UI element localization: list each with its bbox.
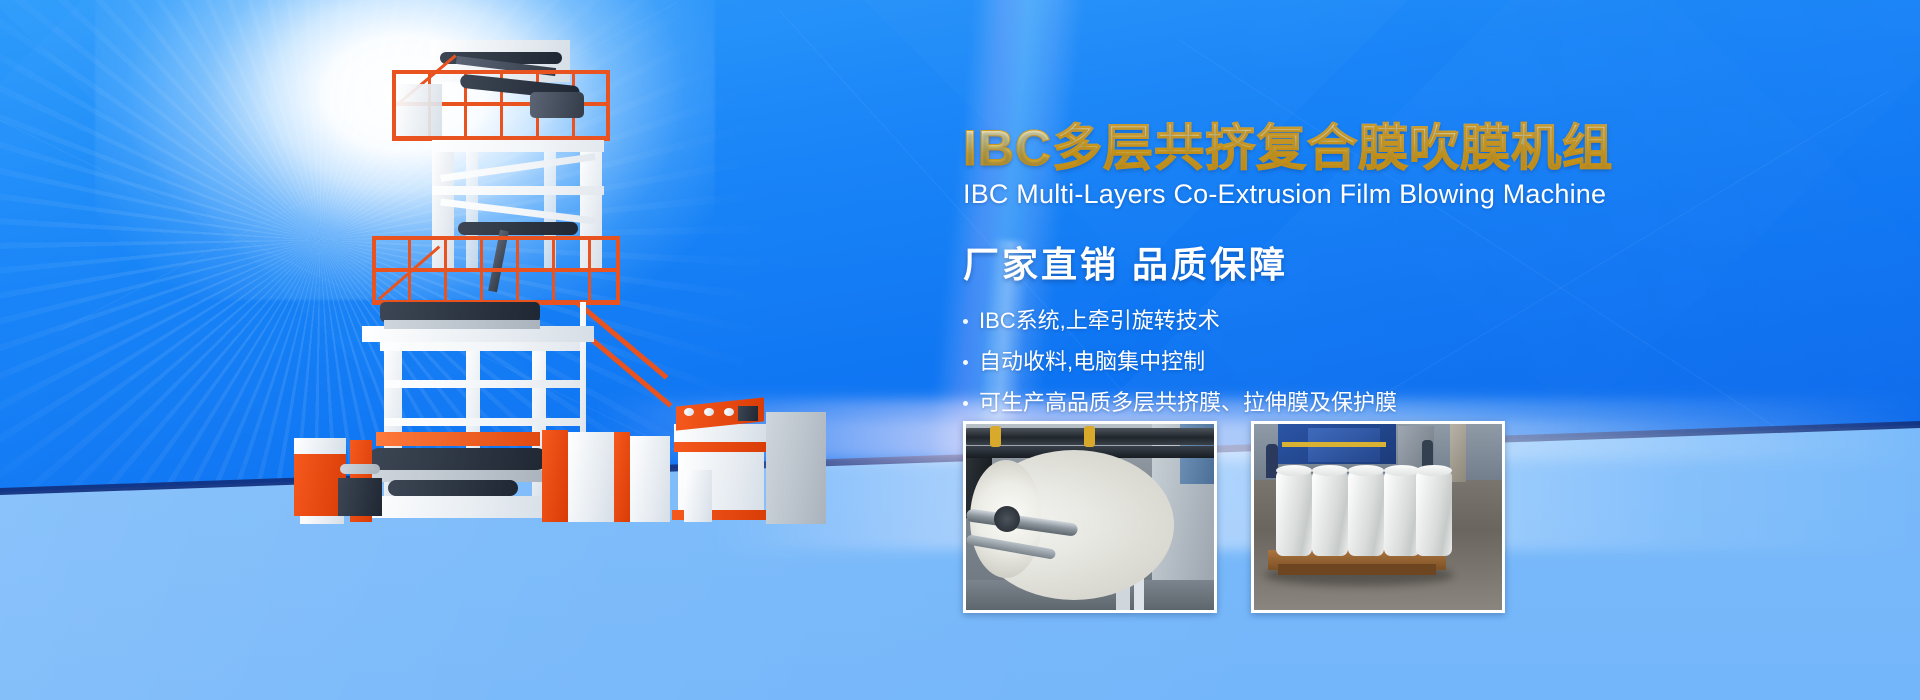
product-photo-film-rolls-pallet[interactable] — [1251, 421, 1505, 613]
list-item: 可生产高品质多层共挤膜、拉伸膜及保护膜 — [963, 392, 1683, 414]
list-item: IBC系统,上牵引旋转技术 — [963, 310, 1683, 332]
feature-text: 可生产高品质多层共挤膜、拉伸膜及保护膜 — [979, 392, 1397, 414]
promo-banner: IBC多层共挤复合膜吹膜机组 IBC Multi-Layers Co-Extru… — [0, 0, 1920, 700]
feature-text: 自动收料,电脑集中控制 — [979, 351, 1205, 373]
bullet-dot-icon — [963, 319, 968, 324]
banner-title-chinese: IBC多层共挤复合膜吹膜机组 — [963, 122, 1683, 175]
blown-film-machine-illustration — [280, 40, 750, 640]
product-photo-film-roll[interactable] — [963, 421, 1217, 613]
list-item: 自动收料,电脑集中控制 — [963, 351, 1683, 373]
bullet-dot-icon — [963, 401, 968, 406]
feature-text: IBC系统,上牵引旋转技术 — [979, 310, 1220, 332]
banner-text-block: IBC多层共挤复合膜吹膜机组 IBC Multi-Layers Co-Extru… — [963, 122, 1683, 433]
feature-list: IBC系统,上牵引旋转技术 自动收料,电脑集中控制 可生产高品质多层共挤膜、拉伸… — [963, 310, 1683, 414]
bullet-dot-icon — [963, 360, 968, 365]
banner-slogan: 厂家直销 品质保障 — [963, 236, 1683, 288]
banner-title-english: IBC Multi-Layers Co-Extrusion Film Blowi… — [963, 179, 1683, 210]
